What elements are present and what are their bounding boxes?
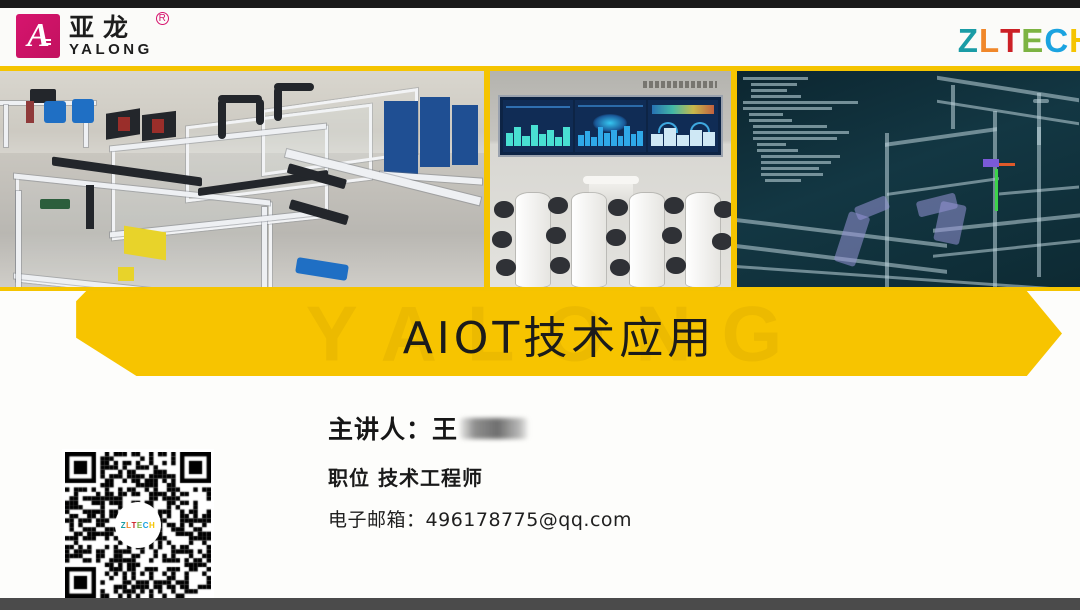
dashboard-video-wall [498,95,723,157]
zltech-letter-l: L [979,22,1000,60]
title-banner: YALONG AIOT技术应用 [56,291,1062,376]
page-title: AIOT技术应用 [403,302,716,366]
yalong-wordmark: 亚龙 YALONG R [69,15,153,58]
presenter-label: 主讲人： [328,410,432,446]
presenter-name: 王 [432,410,458,446]
role-label: 职位 [328,466,370,490]
role-value: 技术工程师 [378,466,483,490]
presenter-role-line: 职位 技术工程师 [328,462,968,491]
yalong-mark-icon: A [16,14,60,58]
photo-automation-line [0,71,484,287]
zltech-letter-z: Z [958,22,979,60]
yalong-letter-a: A [16,14,60,58]
presentation-slide: A 亚龙 YALONG R ZLTECH [0,0,1080,610]
yalong-logo: A 亚龙 YALONG R [16,14,153,58]
qr-code-center-logo: ZLTECH [115,502,161,548]
slide-header: A 亚龙 YALONG R ZLTECH [0,8,1080,66]
yalong-name-en: YALONG [69,42,153,58]
registered-trademark-icon: R [156,12,169,25]
letterbox-strip-top [0,0,1080,8]
presenter-email-line: 电子邮箱：496178775@qq.com [328,505,968,532]
zltech-letter-h: H [1069,22,1080,60]
zltech-letter-c: C [1044,22,1069,60]
presenter-name-redacted-block [460,418,528,439]
zltech-letter-e: E [1021,22,1044,60]
cad-model-tree-panel [743,77,863,187]
email-value: 496178775@qq.com [426,509,633,531]
photo-control-room [490,71,731,287]
qr-code[interactable]: ZLTECH [62,449,214,601]
photo-3d-cad-model [737,71,1080,287]
control-room-desks [490,187,731,287]
qr-logo-letter-h: H [149,521,155,530]
zltech-logo: ZLTECH [958,22,1080,60]
qr-code-pattern: ZLTECH [65,452,211,598]
letterbox-strip-bottom [0,598,1080,610]
email-label: 电子邮箱： [328,509,426,531]
presenter-line: 主讲人：王 [328,410,968,446]
yalong-name-cn: 亚龙 [69,15,153,41]
photo-strip [0,66,1080,291]
yalong-mark-stripes [42,39,51,47]
zltech-letter-t: T [1000,22,1021,60]
speaker-info: 主讲人：王 职位 技术工程师 电子邮箱：496178775@qq.com [328,410,968,532]
control-room-wall-text [643,81,717,88]
